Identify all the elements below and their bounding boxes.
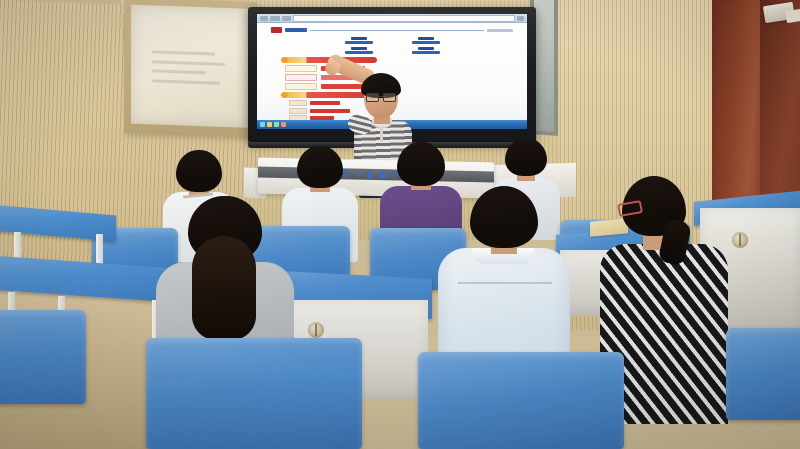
start-icon[interactable] — [260, 122, 265, 127]
header-divider — [310, 30, 484, 31]
browser-chrome — [257, 14, 527, 23]
flow-label — [285, 83, 317, 90]
node-grid — [336, 37, 448, 54]
whiteboard-ink-line — [152, 60, 225, 66]
site-logo-text — [285, 28, 307, 32]
attendee-head — [397, 142, 445, 186]
attendee-head — [470, 186, 538, 248]
attendee-head — [176, 150, 222, 192]
desk-cable-grommet-icon — [308, 322, 324, 338]
address-bar[interactable] — [293, 15, 515, 22]
node-title — [351, 47, 367, 50]
whiteboard-ink-line — [152, 79, 220, 84]
node-subtitle — [412, 41, 440, 44]
glasses-lens-right — [383, 93, 396, 102]
flow-label — [285, 74, 317, 81]
page-meta — [487, 29, 513, 32]
browser-menu-icon[interactable] — [517, 16, 524, 21]
node-subtitle — [345, 41, 373, 44]
attendee-head — [505, 138, 547, 176]
chair-backrest — [726, 328, 800, 420]
chair-backrest — [146, 338, 362, 449]
long-hair — [192, 236, 256, 340]
node-subtitle — [412, 51, 440, 54]
node-subtitle — [345, 51, 373, 54]
list-key — [289, 108, 307, 114]
whiteboard-ink-line — [152, 51, 215, 56]
shirt-seam — [458, 282, 552, 284]
site-header — [271, 26, 513, 34]
presenter-pointing-finger — [326, 57, 335, 70]
whiteboard-surface[interactable] — [131, 5, 248, 128]
classroom-scene — [0, 0, 800, 449]
browser-tab-icon[interactable] — [282, 16, 291, 21]
chair-front-right[interactable] — [418, 352, 624, 449]
chair-front-left[interactable] — [146, 338, 362, 449]
desk-cable-grommet-icon — [732, 232, 748, 248]
presenter-hand — [322, 57, 342, 78]
browser-icon[interactable] — [274, 122, 279, 127]
chair-right-edge[interactable] — [726, 328, 800, 420]
site-logo-icon — [271, 27, 282, 33]
whiteboard-ink-line — [152, 70, 206, 75]
ceiling-light-fixture-secondary — [785, 9, 800, 23]
browser-tab-icon[interactable] — [260, 16, 268, 21]
flow-label — [285, 65, 317, 72]
attendee-head — [297, 146, 343, 188]
list-key — [289, 100, 307, 106]
glasses-lens-left — [366, 93, 379, 102]
node-1[interactable] — [336, 37, 381, 44]
whiteboard-frame — [124, 0, 256, 138]
media-icon[interactable] — [281, 122, 286, 127]
chair-left-edge[interactable] — [0, 310, 86, 404]
presenter-shirt-placket — [380, 126, 383, 142]
section-badge-icon — [281, 57, 288, 63]
chair-backrest — [418, 352, 624, 449]
node-3[interactable] — [336, 47, 381, 54]
node-2[interactable] — [403, 37, 448, 44]
presenter-glasses — [366, 93, 396, 100]
node-title — [351, 37, 367, 40]
node-4[interactable] — [403, 47, 448, 54]
node-title — [418, 37, 434, 40]
section-badge-icon — [281, 92, 288, 98]
chair-backrest — [0, 310, 86, 404]
explorer-icon[interactable] — [267, 122, 272, 127]
node-title — [418, 47, 434, 50]
decal-glyph — [367, 170, 374, 178]
browser-tab-icon[interactable] — [270, 16, 280, 21]
